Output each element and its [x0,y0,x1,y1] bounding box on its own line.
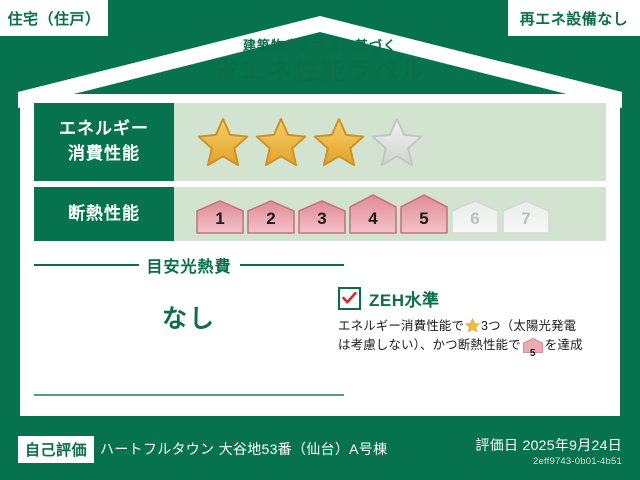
insulation-performance-label-cell: 断熱性能 [34,187,174,241]
zeh-title: ZEH水準 [369,286,440,311]
star-list [196,116,424,168]
energy-performance-label: 住宅（住戸） 再エネ設備なし 建築物省エネ法に基づく 省エネ性能ラベル エネルギ… [0,0,640,480]
label-footer: 自己評価 ハートフルタウン 大谷地53番（仙台）A号棟 評価日 2025年9月2… [0,424,640,480]
insulation-level-number: 6 [451,209,499,229]
energy-star-rating [174,103,606,181]
evaluation-date: 評価日 2025年9月24日 [475,435,622,455]
insulation-level-badge: 2 [247,200,295,234]
zeh-desc-part3: を達成 [545,338,583,352]
insulation-level-badge: 3 [298,200,346,234]
insulation-badge-inline-number: 5 [523,349,543,359]
star-icon-filled [196,116,250,168]
utility-cost-title: 目安光熱費 [147,253,232,277]
content-panel: エネルギー 消費性能 断熱性能 1234567 目安光熱費 なし [20,94,620,416]
energy-label-line1: エネルギー [59,119,149,138]
zeh-header: ZEH水準 [338,286,608,311]
building-name: ハートフルタウン 大谷地53番（仙台）A号棟 [100,439,387,459]
zeh-desc-stars: 3つ（太陽光発電 [481,319,576,333]
insulation-performance-row: 断熱性能 1234567 [34,187,606,241]
zeh-checkbox[interactable] [338,287,361,310]
utility-cost-value: なし [34,299,344,335]
insulation-badge-inline: 5 [523,338,543,359]
star-icon-empty [370,116,424,168]
insulation-level-badge: 5 [400,194,448,234]
insulation-level-rating: 1234567 [174,187,606,241]
zeh-description: エネルギー消費性能で3つ（太陽光発電は考慮しない）、かつ断熱性能で5を達成 [338,317,608,360]
zeh-standard-block: ZEH水準 エネルギー消費性能で3つ（太陽光発電は考慮しない）、かつ断熱性能で5… [338,286,608,360]
document-id: 2eff9743-0b01-4b51 [533,456,622,467]
zeh-desc-part2: は考慮しない）、かつ断熱性能で [338,338,521,352]
insulation-level-badge: 1 [196,200,244,234]
utility-cost-bottom-rule [34,394,344,396]
star-icon-filled [254,116,308,168]
insulation-level-number: 1 [196,209,244,229]
insulation-level-list: 1234567 [196,194,550,234]
check-icon [342,292,357,305]
star-icon-inline [465,318,480,333]
utility-cost-header: 目安光熱費 [34,254,344,276]
cost-rule-left [34,264,139,266]
energy-performance-label-cell: エネルギー 消費性能 [34,103,174,181]
zeh-desc-part1: エネルギー消費性能で [338,319,464,333]
insulation-level-number: 4 [349,209,397,229]
insulation-level-badge: 7 [502,200,550,234]
insulation-level-number: 7 [502,209,550,229]
insulation-level-number: 3 [298,209,346,229]
insulation-level-number: 5 [400,209,448,229]
energy-label-line2: 消費性能 [68,144,140,163]
star-icon-filled [312,116,366,168]
energy-performance-row: エネルギー 消費性能 [34,103,606,181]
insulation-level-number: 2 [247,209,295,229]
insulation-level-badge: 4 [349,194,397,234]
self-evaluation-badge: 自己評価 [18,436,94,463]
insulation-level-badge: 6 [451,200,499,234]
cost-rule-right [240,264,345,266]
